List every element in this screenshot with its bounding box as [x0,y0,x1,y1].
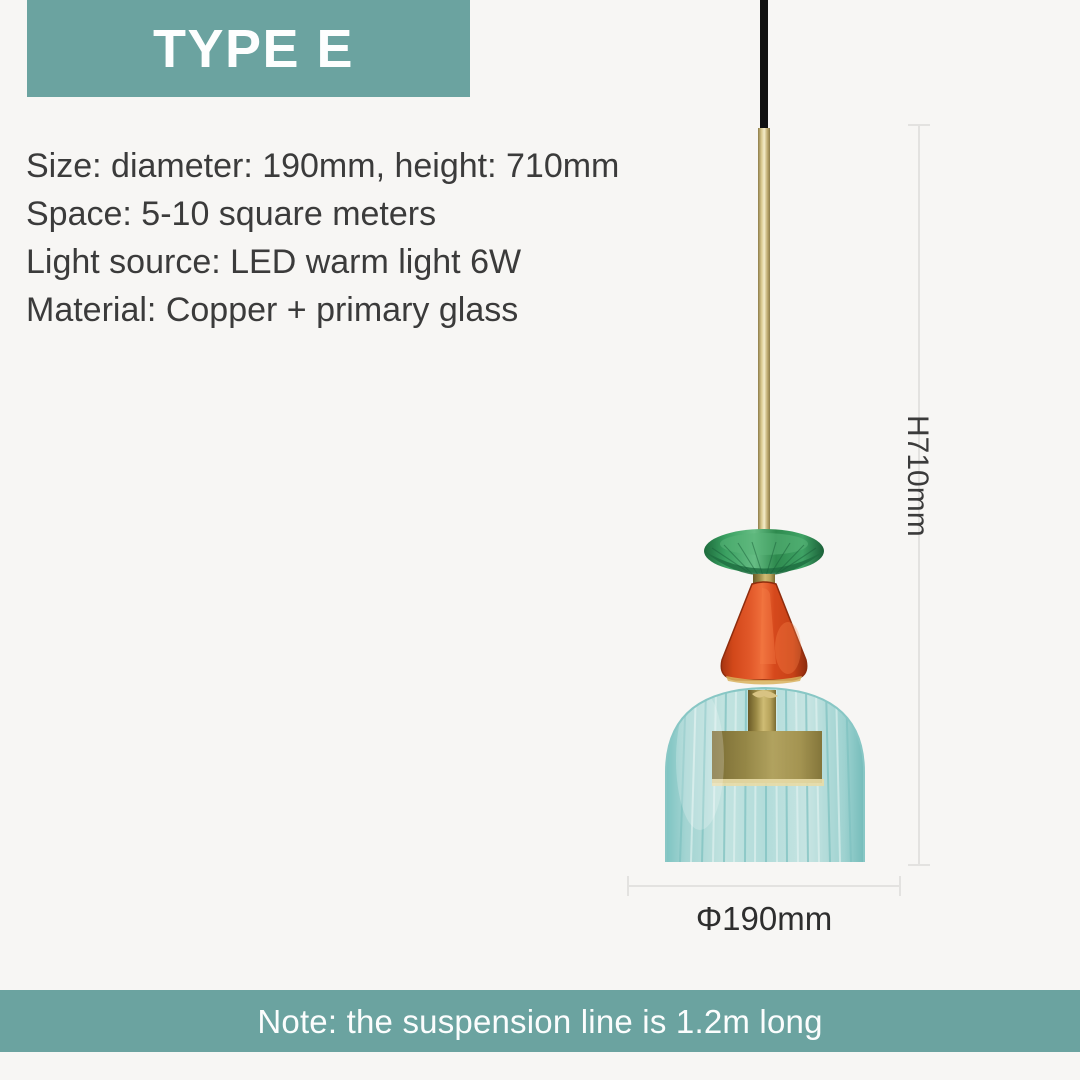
brass-collar-upper [753,574,775,586]
spec-line-space: Space: 5-10 square meters [26,190,826,238]
brass-lamp-socket [712,690,824,786]
type-badge: TYPE E [27,0,470,97]
width-dimension-label: Φ190mm [627,900,901,938]
spec-line-size: Size: diameter: 190mm, height: 710mm [26,142,826,190]
product-spec-page: TYPE E Size: diameter: 190mm, height: 71… [0,0,1080,1080]
spec-line-light-source: Light source: LED warm light 6W [26,238,826,286]
width-dimension-line [627,876,901,896]
green-glass-disc [704,529,824,576]
height-dimension-label: H710mm [900,415,934,537]
footer-note-bar: Note: the suspension line is 1.2m long [0,990,1080,1052]
footer-note-label: Note: the suspension line is 1.2m long [257,1005,822,1038]
dimension-cap-right [899,876,901,896]
spec-list: Size: diameter: 190mm, height: 710mm Spa… [26,142,826,334]
spec-line-material: Material: Copper + primary glass [26,286,826,334]
suspension-cord [760,0,768,132]
orange-glass-cone [721,582,806,685]
dimension-cap-bottom [908,864,930,866]
type-badge-label: TYPE E [143,22,354,76]
dimension-line-horizontal [627,885,901,887]
blue-ribbed-glass-shade [666,688,864,862]
